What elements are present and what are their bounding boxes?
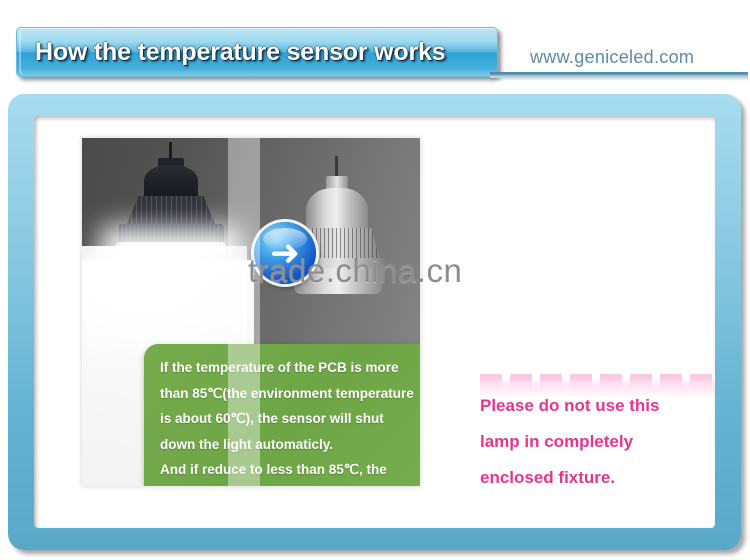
warning-line: lamp in completely	[480, 424, 715, 460]
callout-line: down the light automaticly.	[160, 432, 420, 458]
page-title-banner: How the temperature sensor works	[16, 27, 498, 77]
lamp-heatsink-fins	[126, 196, 216, 226]
content-frame-inner: ➜ If the temperature of the PCB is more …	[34, 116, 715, 528]
warning-line: enclosed fixture.	[480, 460, 715, 496]
lamp-cord	[335, 156, 338, 178]
page-header: How the temperature sensor works www.gen…	[0, 0, 750, 92]
content-frame: ➜ If the temperature of the PCB is more …	[8, 94, 741, 550]
led-high-bay-lamp-on	[106, 142, 236, 276]
product-photo: ➜ If the temperature of the PCB is more …	[82, 138, 420, 486]
callout-line: And if reduce to less than 85℃, the	[160, 457, 420, 483]
callout-line: If the temperature of the PCB is more	[160, 355, 420, 381]
site-url-label[interactable]: www.geniceled.com	[530, 47, 694, 68]
callout-line: sensor will turn it on automaticly.	[160, 483, 420, 487]
lamp-lens-lit	[116, 242, 226, 258]
callout-line: is about 60℃), the sensor will shut	[160, 406, 420, 432]
watermark-text: trade.china.cn	[248, 252, 462, 290]
sensor-explanation-callout: If the temperature of the PCB is more th…	[144, 344, 420, 486]
sensor-explanation-text: If the temperature of the PCB is more th…	[160, 355, 420, 486]
warning-message: Please do not use this lamp in completel…	[480, 388, 715, 496]
page-title: How the temperature sensor works	[35, 28, 487, 78]
warning-line: Please do not use this	[480, 388, 715, 424]
callout-line: than 85℃(the environment temperature	[160, 381, 420, 407]
header-divider-shadow	[490, 78, 748, 81]
lamp-hood	[144, 165, 198, 199]
